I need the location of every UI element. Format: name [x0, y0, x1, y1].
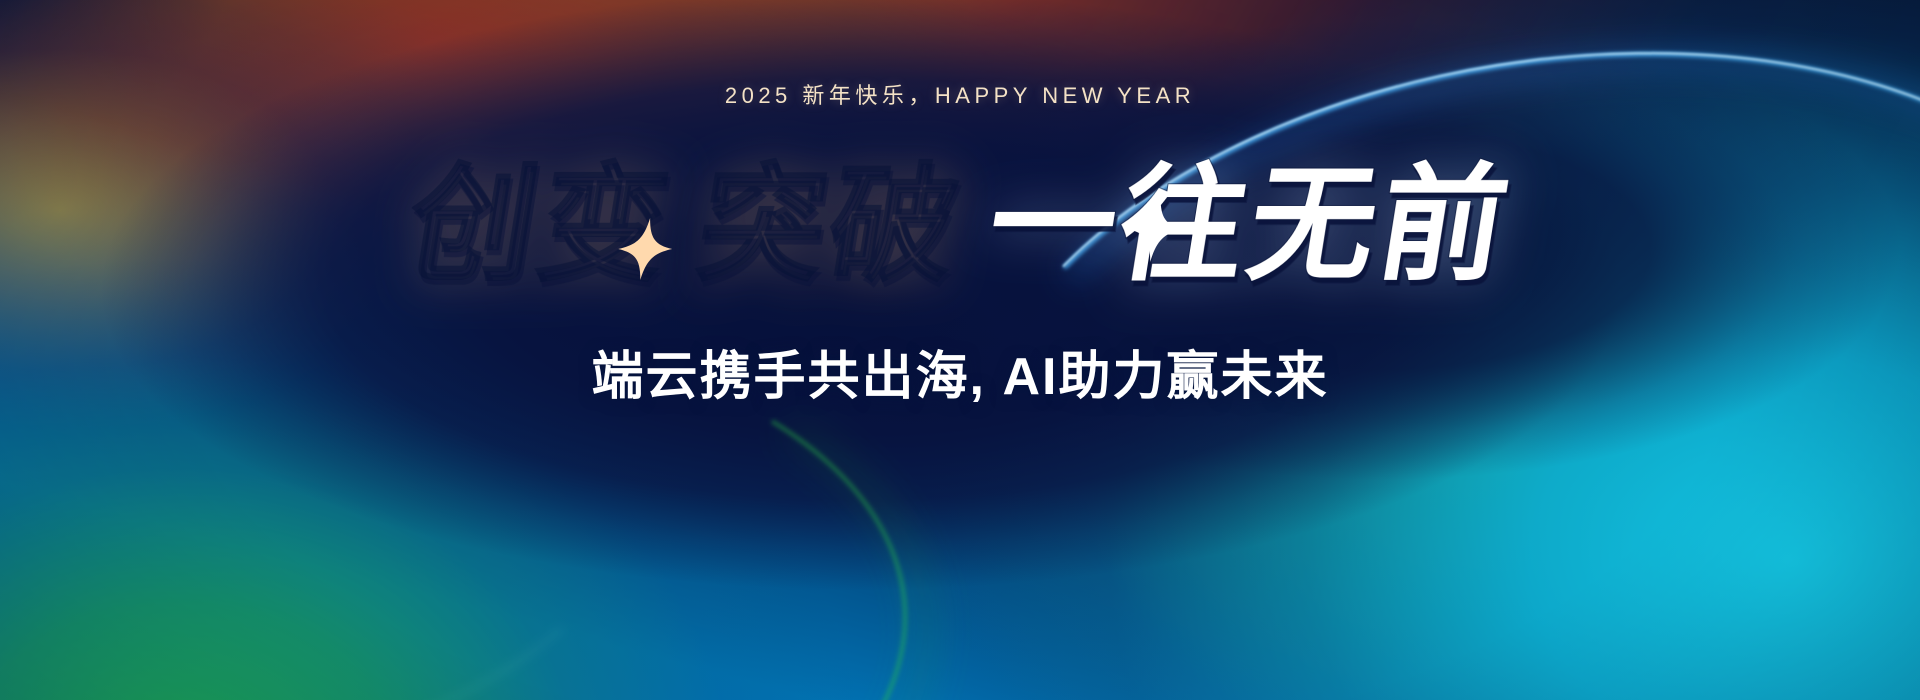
- eyebrow-text: 2025 新年快乐，HAPPY NEW YEAR: [725, 78, 1195, 110]
- headline-gold-segment-2: 突破: [690, 162, 970, 288]
- headline-gold-segment: 创变: [400, 162, 680, 288]
- banner-content: 2025 新年快乐，HAPPY NEW YEAR 创变 突破 一往无前 端云携手…: [0, 0, 1920, 700]
- new-year-banner: 2025 新年快乐，HAPPY NEW YEAR 创变 突破 一往无前 端云携手…: [0, 0, 1920, 700]
- headline: 创变 突破 一往无前: [400, 162, 1520, 288]
- subtitle-text: 端云携手共出海, AI助力赢未来: [592, 334, 1329, 409]
- headline-white-segment: 一往无前: [980, 162, 1520, 288]
